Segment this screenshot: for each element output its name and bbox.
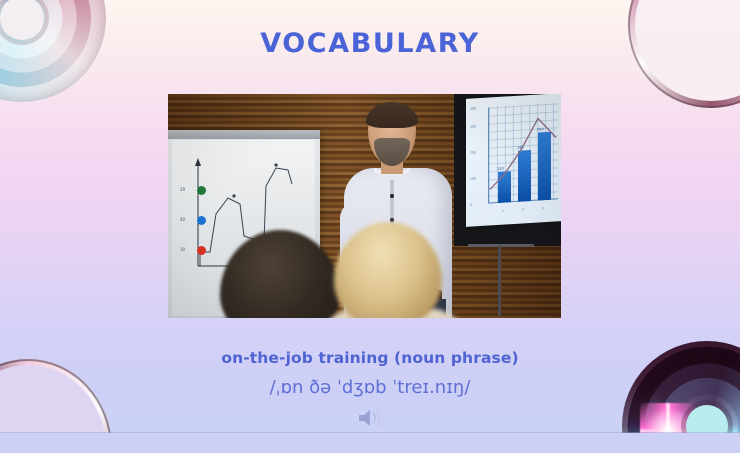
flipchart-dot-green bbox=[197, 186, 206, 195]
vocabulary-ipa: /ˌɒn ðə ˈdʒɒb ˈtreɪ.nɪŋ/ bbox=[0, 377, 740, 398]
play-pronunciation-button[interactable] bbox=[355, 405, 385, 431]
shirt-button bbox=[390, 194, 394, 198]
vocabulary-slide: VOCABULARY 0 100 200 300 400 120 195 260… bbox=[0, 0, 740, 453]
page-title: VOCABULARY bbox=[0, 28, 740, 59]
bar-chart-display: 0 100 200 300 400 120 195 260 1 2 3 bbox=[466, 94, 561, 227]
chart-ytick: 0 bbox=[470, 203, 472, 207]
flipchart-dot-red bbox=[197, 246, 206, 255]
flipchart-dot-blue bbox=[197, 216, 206, 225]
chart-xtick: 1 bbox=[502, 209, 504, 213]
screen-stand-foot bbox=[468, 244, 534, 247]
screen-stand-pole bbox=[498, 246, 501, 316]
chart-ytick: 100 bbox=[470, 176, 476, 180]
chart-ytick: 200 bbox=[470, 150, 476, 154]
vocabulary-image: 0 100 200 300 400 120 195 260 1 2 3 bbox=[168, 94, 561, 318]
flipchart-dot-label: 29 bbox=[180, 187, 185, 192]
chart-xtick: 3 bbox=[542, 206, 544, 210]
chart-trend-line bbox=[488, 103, 558, 203]
flipchart-dot-label: 30 bbox=[180, 247, 185, 252]
chart-ytick: 300 bbox=[470, 124, 476, 128]
chart-ytick: 400 bbox=[470, 106, 476, 110]
chart-xtick: 2 bbox=[522, 207, 524, 211]
vocabulary-term: on-the-job training (noun phrase) bbox=[0, 349, 740, 367]
flipchart-top-rail bbox=[168, 130, 320, 139]
bottom-strip bbox=[0, 433, 740, 453]
speaker-icon bbox=[355, 405, 385, 431]
flipchart-dot-label: 40 bbox=[180, 217, 185, 222]
